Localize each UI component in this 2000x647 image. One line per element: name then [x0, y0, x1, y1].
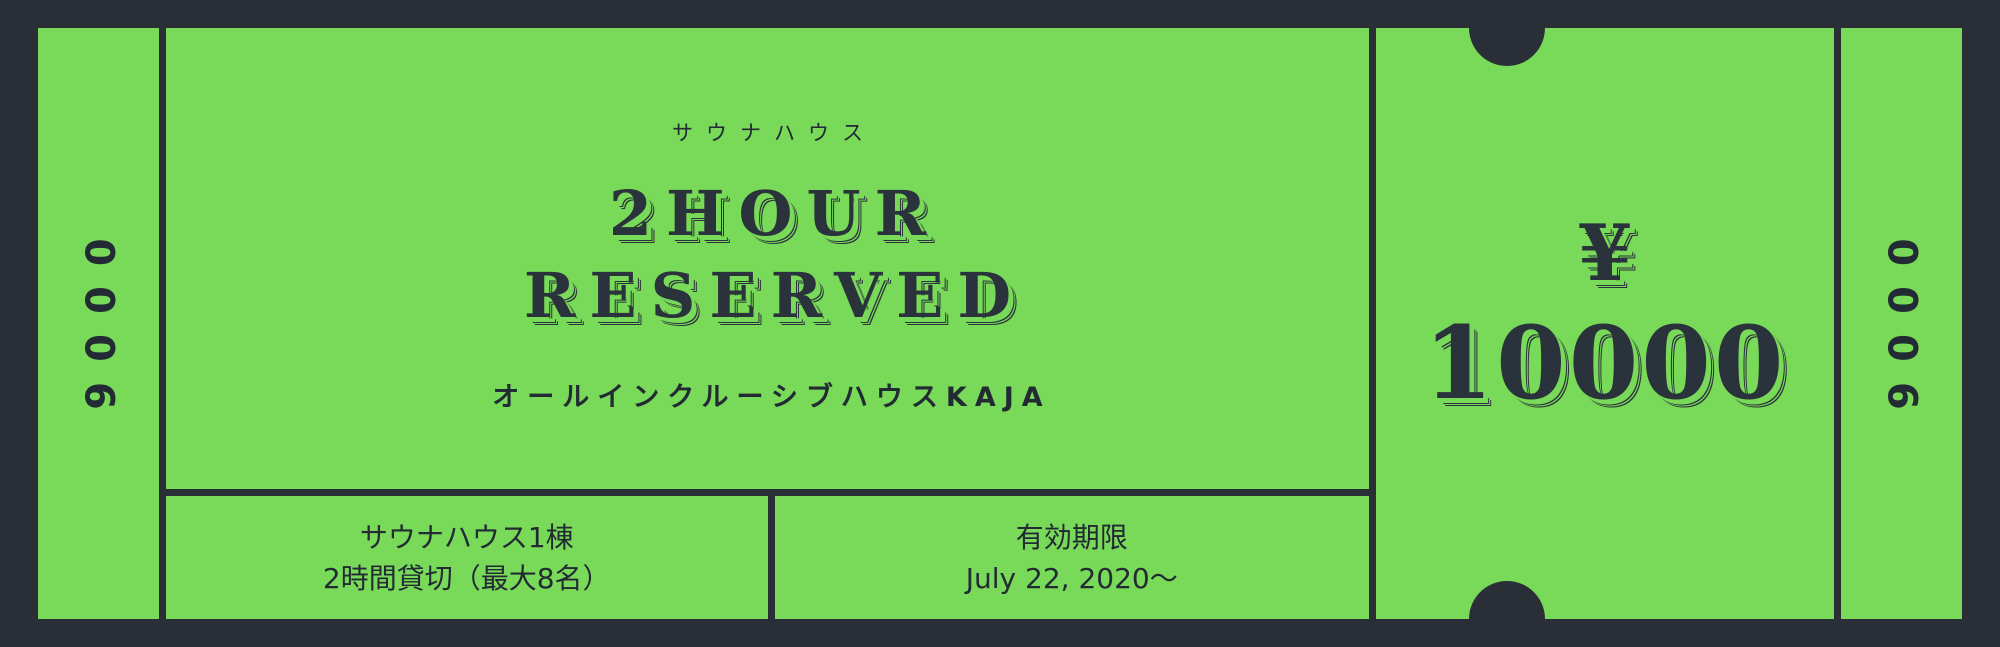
service-detail-line-1: サウナハウス1棟: [360, 520, 574, 555]
ticket-price-panel: ¥ 10000: [1369, 28, 1834, 619]
ticket-body: サウナハウス 2HOUR RESERVED オールインクルーシブハウスKAJA …: [166, 28, 1834, 619]
ticket-title-line-1: 2HOUR: [595, 181, 940, 247]
yen-currency-icon: ¥: [1578, 215, 1632, 293]
expiry-detail-line-1: 有効期限: [1016, 520, 1128, 555]
service-detail-line-2: 2時間貸切（最大8名）: [323, 561, 611, 596]
ticket-stub-left: 0006: [38, 28, 166, 619]
detail-cell-expiry: 有効期限 July 22, 2020〜: [768, 496, 1370, 619]
brand-eyebrow: サウナハウス: [659, 117, 876, 147]
stub-serial-right: 0006: [1882, 218, 1922, 429]
ticket-voucher: 0006 サウナハウス 2HOUR RESERVED オールインクルーシブハウス…: [38, 28, 1962, 619]
ticket-info-panel: サウナハウス 2HOUR RESERVED オールインクルーシブハウスKAJA …: [166, 28, 1369, 619]
ticket-price-amount: 10000: [1424, 313, 1787, 413]
stub-serial-left: 0006: [79, 218, 119, 429]
ticket-title-line-2: RESERVED: [510, 263, 1025, 329]
ticket-detail-row: サウナハウス1棟 2時間貸切（最大8名） 有効期限 July 22, 2020〜: [166, 489, 1369, 619]
expiry-detail-line-2: July 22, 2020〜: [966, 561, 1178, 596]
ticket-stub-right: 0006: [1834, 28, 1962, 619]
ticket-surface: 0006 サウナハウス 2HOUR RESERVED オールインクルーシブハウス…: [38, 28, 1962, 619]
detail-cell-service: サウナハウス1棟 2時間貸切（最大8名）: [166, 496, 768, 619]
ticket-headline-block: サウナハウス 2HOUR RESERVED オールインクルーシブハウスKAJA: [166, 28, 1369, 489]
ticket-subtitle: オールインクルーシブハウスKAJA: [484, 375, 1050, 414]
